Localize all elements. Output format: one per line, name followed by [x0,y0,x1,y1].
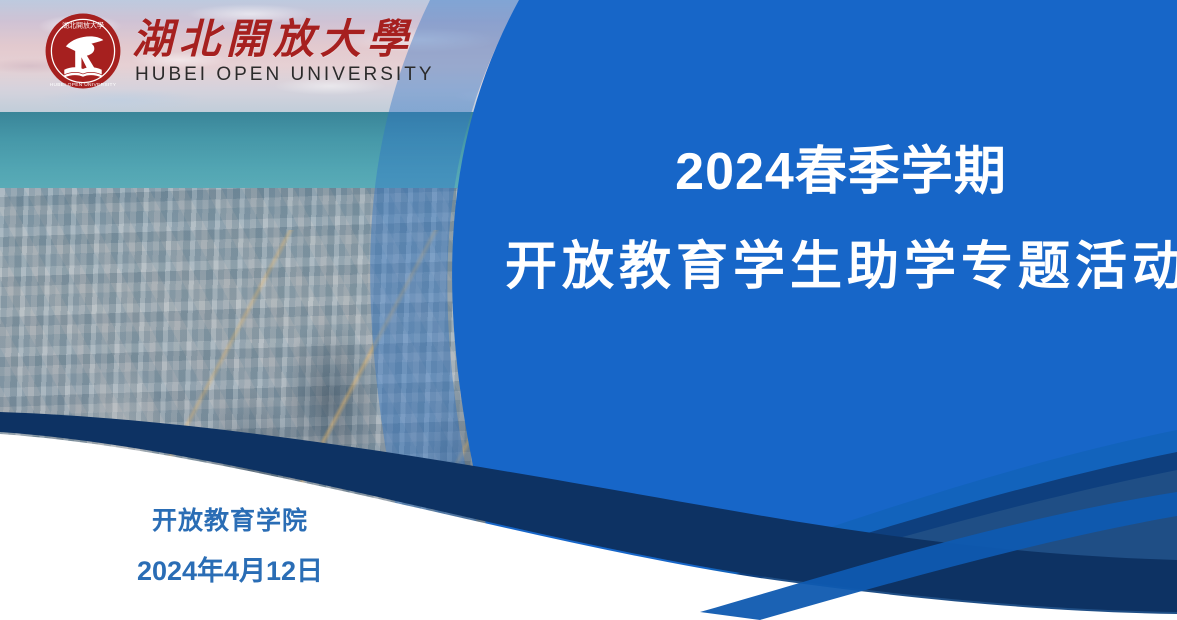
svg-text:湖北開放大學: 湖北開放大學 [62,21,104,30]
footer-date: 2024年4月12日 [60,555,400,587]
svg-text:HUBEI OPEN UNIVERSITY: HUBEI OPEN UNIVERSITY [50,82,117,88]
logo-chinese-name: 湖北開放大學 [132,18,435,61]
title-line-1: 2024春季学期 [505,142,1177,203]
university-logo: 湖北開放大學 HUBEI OPEN UNIVERSITY 湖北開放大學 HUBE… [44,12,435,90]
logo-wordmark: 湖北開放大學 HUBEI OPEN UNIVERSITY [132,16,435,85]
footer-organization: 开放教育学院 [60,506,400,536]
logo-english-name: HUBEI OPEN UNIVERSITY [132,64,435,86]
slide-footer: 开放教育学院 2024年4月12日 [60,506,400,587]
title-line-2: 开放教育学生助学专题活动 [505,237,1177,298]
university-seal-icon: 湖北開放大學 HUBEI OPEN UNIVERSITY [44,12,122,90]
slide-title: 2024春季学期 开放教育学生助学专题活动 [505,142,1177,299]
presentation-slide: 湖北開放大學 HUBEI OPEN UNIVERSITY 湖北開放大學 HUBE… [0,0,1177,620]
